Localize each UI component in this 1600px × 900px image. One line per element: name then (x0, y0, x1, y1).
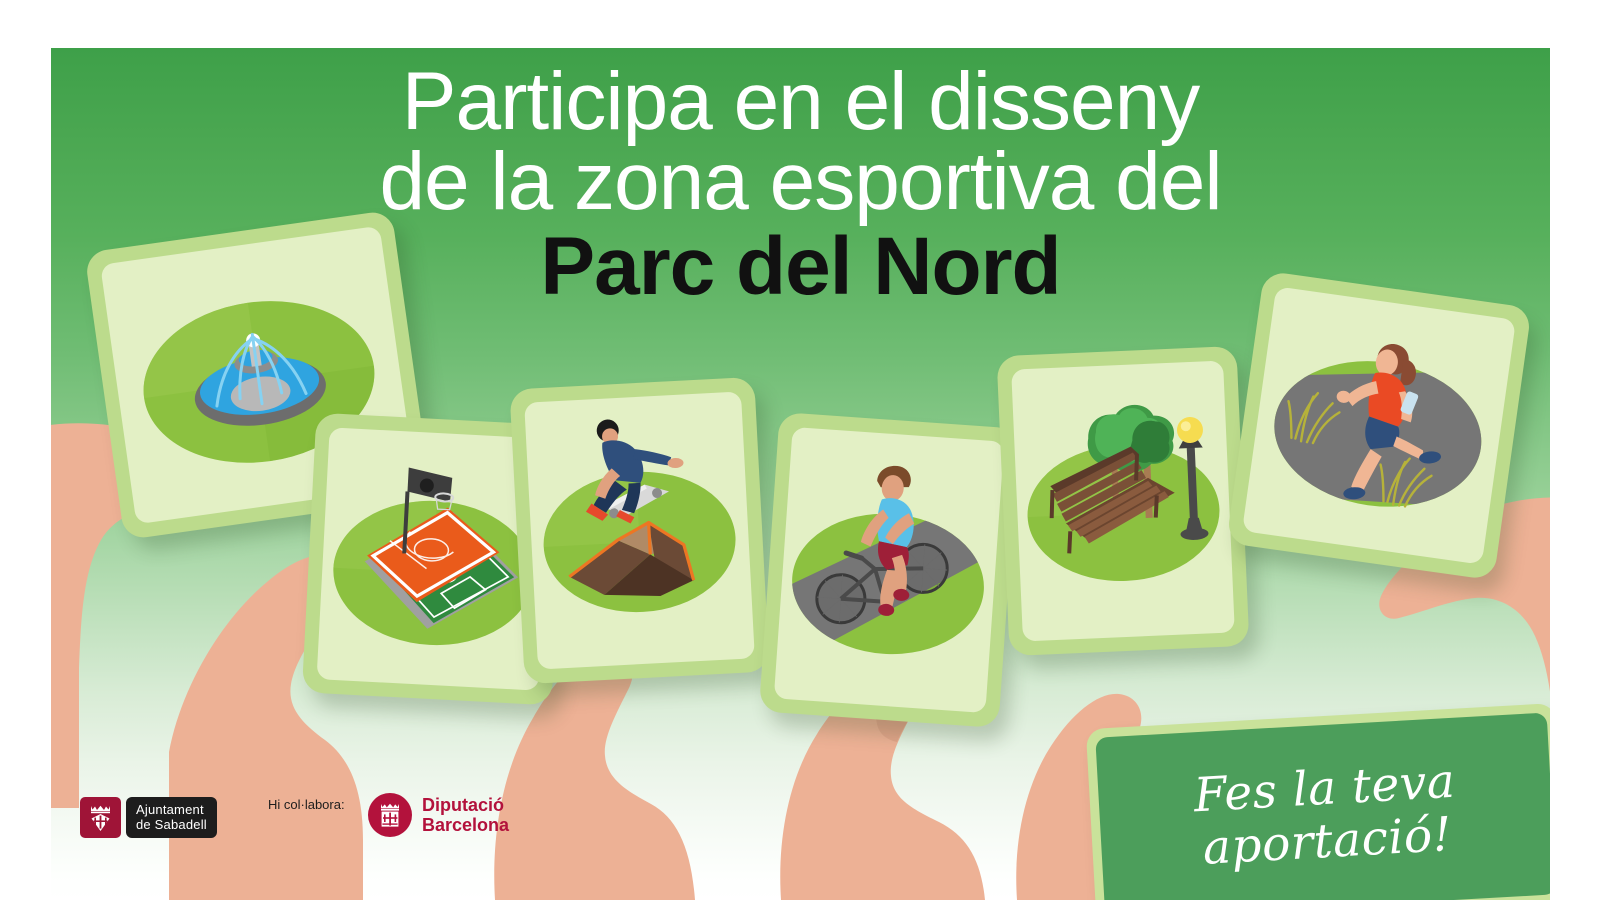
diputacio-label: Diputació Barcelona (422, 795, 509, 835)
card-bike[interactable] (759, 412, 1019, 728)
callout-inner: Fes la teva aportació! (1095, 713, 1550, 900)
runner-icon (1242, 286, 1516, 564)
card-run[interactable] (1226, 271, 1532, 581)
callout-box[interactable]: Fes la teva aportació! (1086, 703, 1550, 900)
card-skate-face (524, 392, 755, 670)
sabadell-coat-of-arms-icon (80, 797, 121, 838)
card-skate[interactable] (509, 377, 769, 684)
bicycle-icon (774, 427, 1004, 713)
callout-text: Fes la teva aportació! (1174, 755, 1477, 877)
poster-canvas: Participa en el disseny de la zona espor… (0, 0, 1600, 900)
diputacio-line-1: Diputació (422, 795, 509, 815)
collaborator-label-group: Hi col·labora: (268, 797, 345, 812)
ajuntament-line-2: de Sabadell (136, 817, 207, 832)
collaborator-label: Hi col·labora: (268, 797, 345, 812)
diputacio-barcelona-seal-icon (368, 793, 412, 837)
skateboard-ramp-icon (524, 392, 755, 670)
diputacio-line-2: Barcelona (422, 815, 509, 835)
ajuntament-label: Ajuntament de Sabadell (126, 797, 217, 838)
ajuntament-line-1: Ajuntament (136, 802, 207, 817)
card-bench[interactable] (997, 346, 1250, 656)
logo-ajuntament-de-sabadell[interactable]: Ajuntament de Sabadell (80, 797, 217, 838)
logo-diputacio-barcelona[interactable]: Diputació Barcelona (368, 793, 509, 837)
card-bench-face (1011, 361, 1235, 642)
card-bike-face (774, 427, 1004, 713)
park-bench-icon (1011, 361, 1235, 642)
poster-banner: Participa en el disseny de la zona espor… (51, 48, 1550, 900)
card-run-face (1242, 286, 1516, 564)
